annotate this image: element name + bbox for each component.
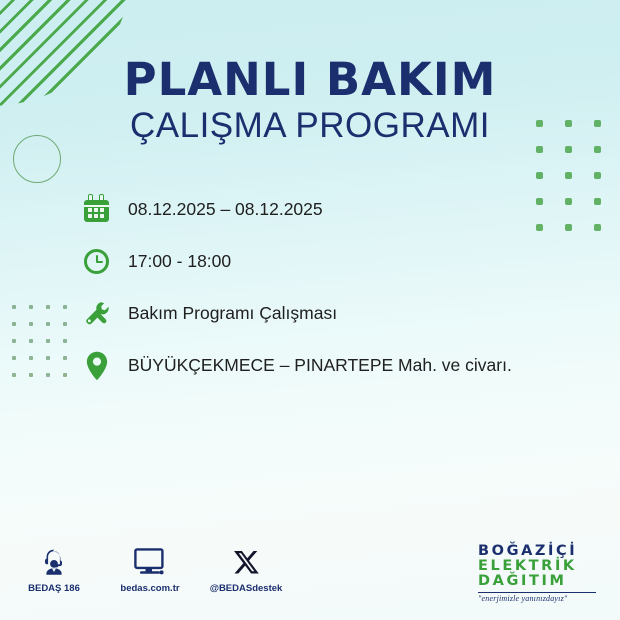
location-pin-icon [82, 349, 112, 381]
contact-call-center-label: BEDAŞ 186 [28, 583, 80, 594]
brand-logo: BOĞAZİÇİ ELEKTRİK DAĞITIM "enerjimizle y… [478, 544, 602, 603]
contact-x-twitter[interactable]: @BEDASdestek [210, 546, 282, 594]
footer-contacts: BEDAŞ 186 bedas.com.tr @BEDASdestek [18, 546, 282, 594]
info-row-location-text: BÜYÜKÇEKMECE – PINARTEPE Mah. ve civarı. [128, 355, 512, 376]
call-center-agent-icon [39, 546, 69, 578]
info-row-time-text: 17:00 - 18:00 [128, 251, 231, 272]
monitor-icon [134, 546, 166, 578]
contact-x-twitter-label: @BEDASdestek [210, 583, 283, 594]
calendar-icon [82, 193, 112, 225]
dot-grid-left-decoration [12, 305, 80, 390]
info-row-worktype-text: Bakım Programı Çalışması [128, 303, 337, 324]
info-row-time: 17:00 - 18:00 [82, 244, 512, 278]
tools-icon [82, 297, 112, 329]
brand-line-2: ELEKTRİK [478, 559, 602, 574]
page-title: PLANLI BAKIM [0, 57, 620, 102]
info-list: 08.12.2025 – 08.12.2025 17:00 - 18:00 [82, 192, 512, 382]
contact-website[interactable]: bedas.com.tr [114, 546, 186, 594]
brand-line-3: DAĞITIM [478, 574, 602, 589]
info-row-worktype: Bakım Programı Çalışması [82, 296, 512, 330]
brand-tagline: "enerjimizle yanınızdayız" [478, 594, 602, 603]
contact-call-center[interactable]: BEDAŞ 186 [18, 546, 90, 594]
planned-maintenance-poster: PLANLI BAKIM ÇALIŞMA PROGRAMI 08.12.2025… [0, 0, 620, 620]
info-row-date: 08.12.2025 – 08.12.2025 [82, 192, 512, 226]
x-twitter-icon [233, 546, 260, 578]
contact-website-label: bedas.com.tr [120, 583, 179, 594]
brand-divider [478, 592, 596, 593]
clock-icon [82, 245, 112, 277]
brand-line-1: BOĞAZİÇİ [478, 544, 602, 559]
info-row-date-text: 08.12.2025 – 08.12.2025 [128, 199, 323, 220]
info-row-location: BÜYÜKÇEKMECE – PINARTEPE Mah. ve civarı. [82, 348, 512, 382]
page-subtitle: ÇALIŞMA PROGRAMI [0, 108, 620, 143]
